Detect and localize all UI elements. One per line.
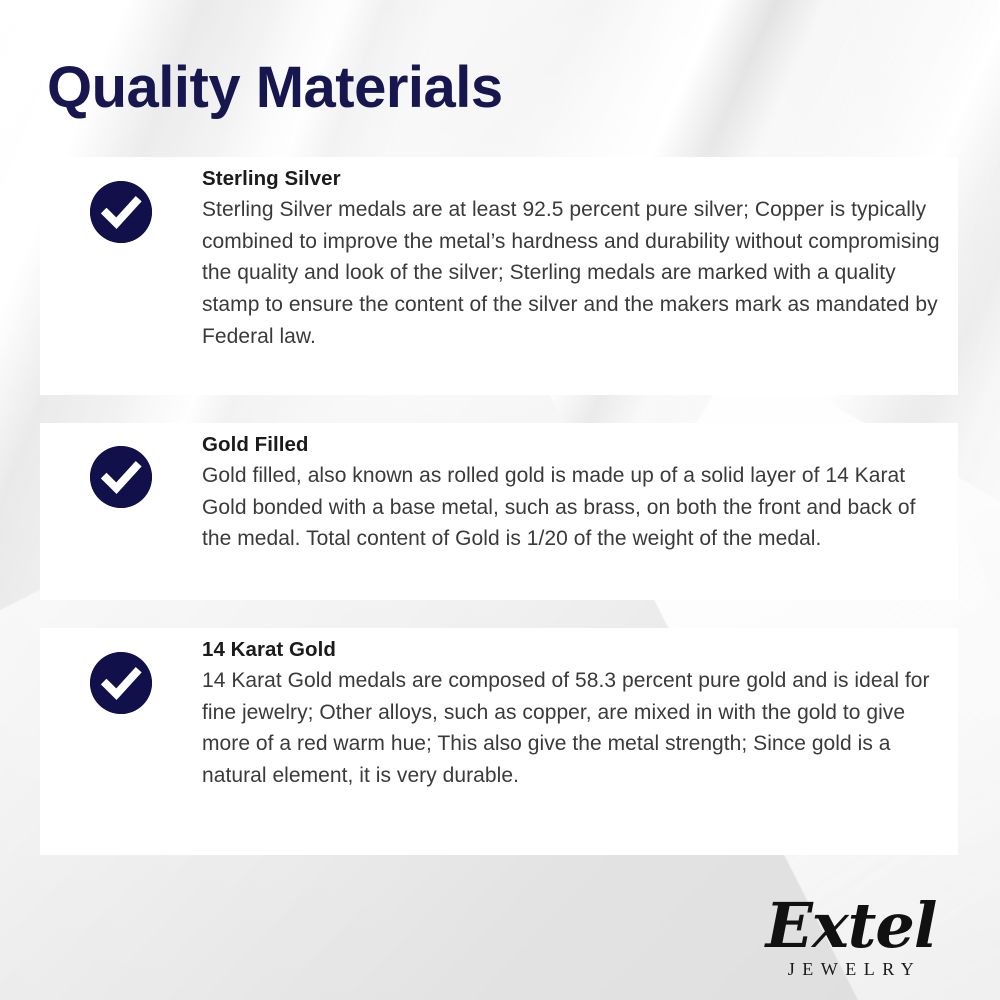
material-text-column: 14 Karat Gold 14 Karat Gold medals are c… (202, 628, 958, 792)
material-title: Sterling Silver (202, 165, 948, 193)
material-body: 14 Karat Gold medals are composed of 58.… (202, 665, 948, 793)
brand-logo-wordmark: JEWELRY (746, 960, 956, 978)
material-text-column: Sterling Silver Sterling Silver medals a… (202, 157, 958, 353)
material-title: Gold Filled (202, 431, 948, 459)
check-circle-icon (90, 652, 152, 714)
brand-logo-script: Extel (746, 895, 956, 957)
material-text-column: Gold Filled Gold filled, also known as r… (202, 423, 958, 555)
check-icon-column (40, 628, 202, 714)
material-card: 14 Karat Gold 14 Karat Gold medals are c… (40, 628, 958, 855)
material-body: Gold filled, also known as rolled gold i… (202, 460, 948, 556)
check-circle-icon (90, 446, 152, 508)
material-body: Sterling Silver medals are at least 92.5… (202, 194, 948, 354)
check-icon-column (40, 423, 202, 508)
material-card: Gold Filled Gold filled, also known as r… (40, 423, 958, 600)
check-icon-column (40, 157, 202, 243)
page-title: Quality Materials (47, 56, 503, 120)
brand-logo: Extel JEWELRY (746, 895, 956, 978)
poster-content: Quality Materials Sterling Silver Sterli… (0, 0, 1000, 1000)
check-circle-icon (90, 181, 152, 243)
material-title: 14 Karat Gold (202, 636, 948, 664)
poster-canvas: Quality Materials Sterling Silver Sterli… (0, 0, 1000, 1000)
material-card: Sterling Silver Sterling Silver medals a… (40, 157, 958, 395)
